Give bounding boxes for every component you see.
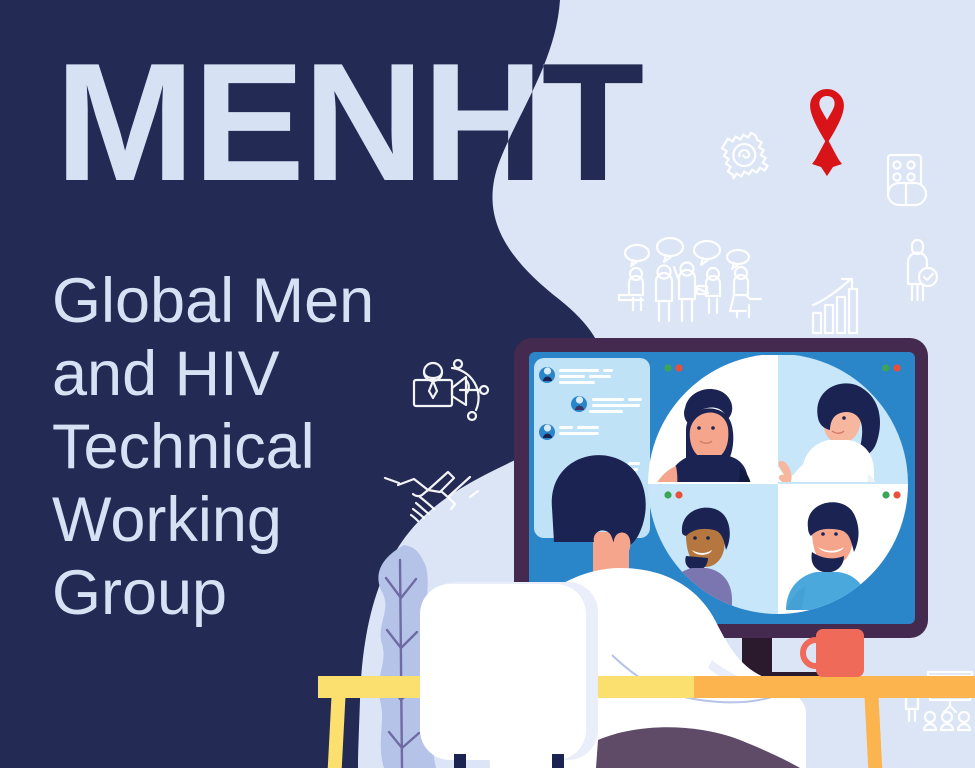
- poster-canvas: MENHT MENHT Global Men and HIV Technical…: [0, 0, 975, 768]
- subtitle-line-3: Technical: [52, 412, 315, 482]
- office-chair: [420, 582, 598, 768]
- poster-artwork: MENHT MENHT Global Men and HIV Technical…: [0, 0, 975, 768]
- subtitle-line-4: Working: [52, 485, 282, 555]
- subtitle-line-1: Global Men: [52, 266, 374, 336]
- subtitle-line-2: and HIV: [52, 339, 280, 409]
- subtitle-line-5: Group: [52, 558, 227, 628]
- poster-title-group: MENHT MENHT: [55, 28, 643, 216]
